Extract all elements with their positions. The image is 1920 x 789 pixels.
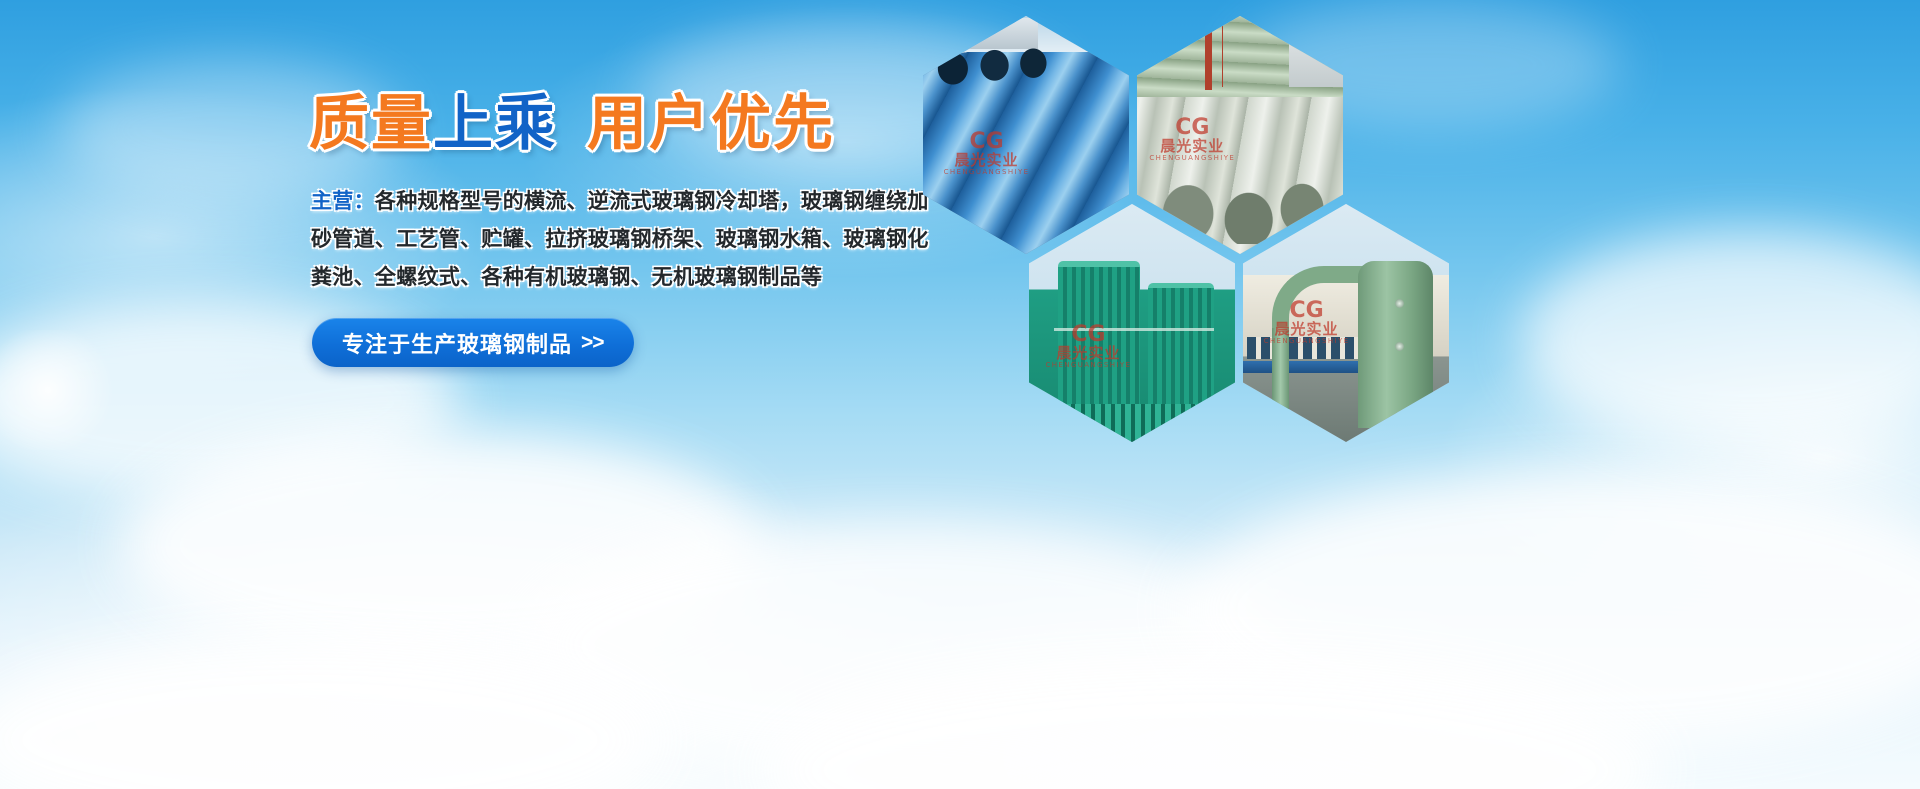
cloud-decoration [520,520,1280,770]
photo-red-ladder [1205,23,1212,90]
description-line-1-text: 各种规格型号的横流、逆流式玻璃钢冷却塔，玻璃钢缠绕加 [375,189,929,213]
photo-louver-grille [1045,404,1218,442]
cta-button[interactable]: 专注于生产玻璃钢制品 >> [312,318,634,367]
cloud-wisp-decoration [0,330,120,450]
headline-segment-2: 上乘 [433,89,557,159]
photo-vertical-duct [1272,328,1289,437]
photo-green-scrubber-tank [1243,204,1449,442]
promo-banner: 质量上乘用户优先 主营：各种规格型号的横流、逆流式玻璃钢冷却塔，玻璃钢缠绕加 砂… [0,0,1920,789]
cloud-decoration [1520,230,1920,450]
banner-description: 主营：各种规格型号的横流、逆流式玻璃钢冷却塔，玻璃钢缠绕加 砂管道、工艺管、贮罐… [311,182,911,296]
banner-headline: 质量上乘用户优先 [309,94,835,154]
photo-green-cooling-towers [1029,204,1235,442]
collage-tile-green-scrubber-tank[interactable]: CG 晨光实业 CHENGUANGSHIYE [1243,204,1449,442]
cloud-decoration [120,430,760,660]
photo-grey-frp-pipes [1137,16,1343,254]
cloud-decoration [760,660,1660,789]
photo-factory-wall [1289,16,1343,87]
collage-tile-green-cooling-towers[interactable]: CG 晨光实业 CHENGUANGSHIYE [1029,204,1235,442]
collage-tile-blue-frp-pipes[interactable]: CG 晨光实业 CHENGUANGSHIYE [923,16,1129,254]
photo-inspection-port [1395,299,1404,308]
product-photo-collage: CG 晨光实业 CHENGUANGSHIYE CG 晨光实业 CHENGUANG… [905,8,1445,428]
headline-segment-3: 用户优先 [587,89,835,159]
cta-button-label: 专注于生产玻璃钢制品 [342,327,572,359]
cloud-decoration [0,640,660,789]
photo-cooling-tower-large [1058,261,1140,415]
cloud-decoration [1180,470,1920,750]
photo-blue-frp-pipes [923,16,1129,254]
description-line-2: 砂管道、工艺管、贮罐、拉挤玻璃钢桥架、玻璃钢水箱、玻璃钢化 [311,220,911,258]
collage-tile-grey-frp-pipes[interactable]: CG 晨光实业 CHENGUANGSHIYE [1137,16,1343,254]
description-line-3: 粪池、全螺纹式、各种有机玻璃钢、无机玻璃钢制品等 [311,258,911,296]
photo-inspection-port [1395,342,1404,351]
photo-handrail [1054,328,1215,331]
chevron-right-double-icon: >> [581,331,604,355]
headline-segment-1: 质量 [309,89,433,159]
description-line-1: 主营：各种规格型号的横流、逆流式玻璃钢冷却塔，玻璃钢缠绕加 [311,182,911,220]
photo-pipe-endcaps [935,42,1083,94]
description-label: 主营： [311,189,375,213]
photo-cooling-tower-small [1148,283,1214,414]
